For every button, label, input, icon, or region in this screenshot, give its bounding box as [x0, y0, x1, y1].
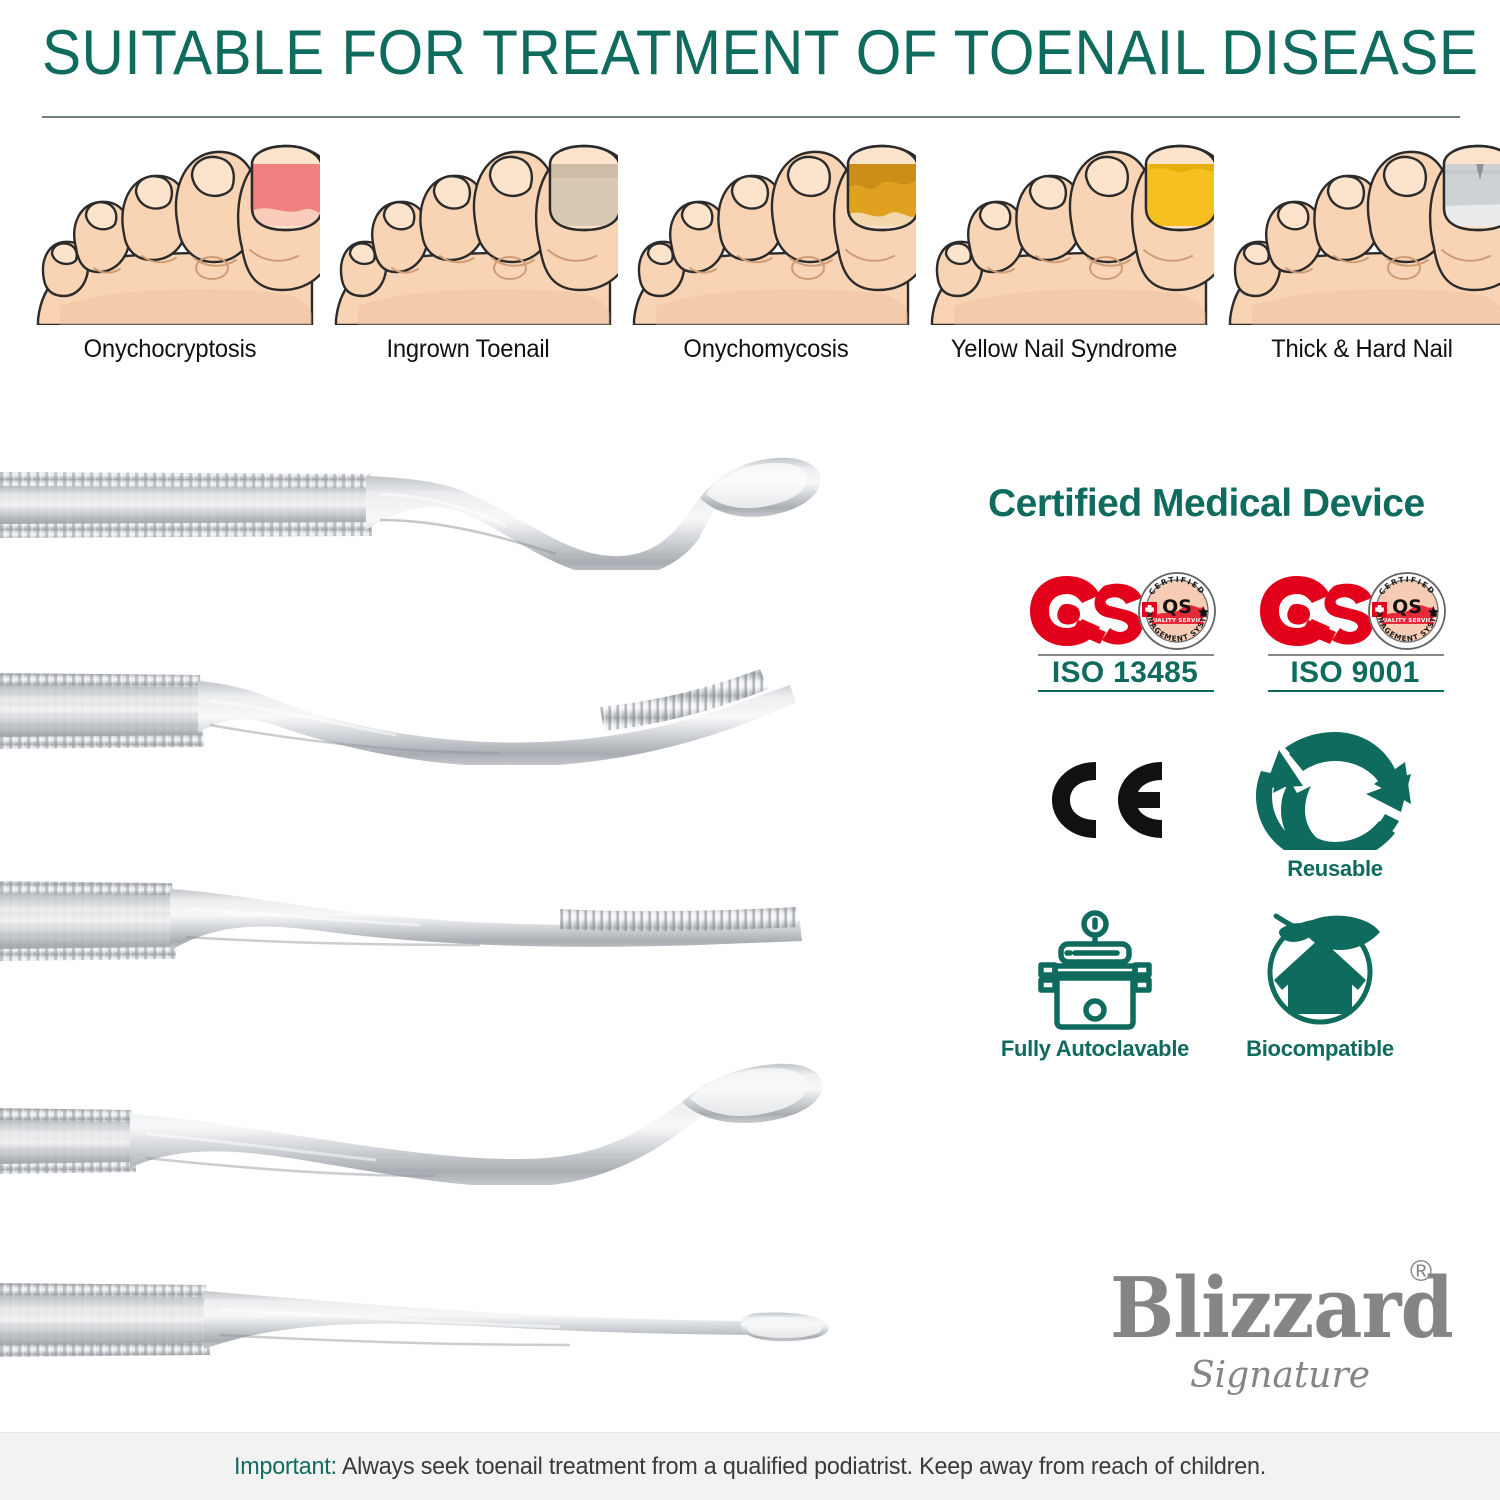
- feature-recycle-icon: Reusable: [1235, 730, 1435, 882]
- brand-tagline: Signature: [1110, 1355, 1450, 1396]
- instrument-curved-serrated-rasp: [0, 655, 900, 770]
- condition-card-3: Onychomycosis: [616, 130, 916, 385]
- brand-name: Blizzard: [1110, 1259, 1450, 1357]
- header-divider: [42, 116, 1460, 118]
- condition-card-5: Thick & Hard Nail: [1212, 130, 1500, 385]
- foot-illustration-thick-cracked: [1212, 130, 1500, 325]
- ce-mark: [1010, 740, 1210, 860]
- foot-illustration-ingrown-dull: [318, 130, 618, 325]
- iso-badge-row: QS QUALITY SERVICE CERTIFIED MANAGEMENT …: [960, 570, 1500, 690]
- header: SUITABLE FOR TREATMENT OF TOENAIL DISEAS…: [0, 0, 1500, 125]
- page-title: SUITABLE FOR TREATMENT OF TOENAIL DISEAS…: [42, 16, 1363, 90]
- certification-heading: Certified Medical Device: [988, 482, 1488, 526]
- feature-label: Biocompatible: [1220, 1036, 1420, 1062]
- iso-badge-iso-9001: QS QUALITY SERVICE CERTIFIED MANAGEMENT …: [1250, 570, 1460, 690]
- recycle-icon: [1235, 730, 1435, 850]
- iso-bottom-rule: [1268, 690, 1444, 692]
- instrument-gallery: [0, 420, 960, 1400]
- footer-disclaimer-bar: Important: Always seek toenail treatment…: [0, 1432, 1500, 1500]
- instrument-straight-paddle-probe: [0, 1265, 900, 1380]
- iso-standard-label: ISO 9001: [1250, 656, 1460, 690]
- condition-label: Yellow Nail Syndrome: [912, 335, 1216, 364]
- condition-label: Onychocryptosis: [18, 335, 322, 364]
- autoclave-icon: [995, 910, 1195, 1030]
- feature-autoclave-icon: Fully Autoclavable: [995, 910, 1195, 1062]
- qs-certified-seal-icon: QS QUALITY SERVICE CERTIFIED MANAGEMENT …: [1020, 570, 1230, 652]
- condition-label: Thick & Hard Nail: [1210, 335, 1500, 364]
- instrument-angled-flat-elevator: [0, 1060, 900, 1190]
- conditions-strip: Onychocryptosis Ing: [0, 130, 1500, 385]
- iso-standard-label: ISO 13485: [1020, 656, 1230, 690]
- feature-label: Fully Autoclavable: [995, 1036, 1195, 1062]
- feature-ce-mark: [1010, 740, 1210, 860]
- footer-text: Important: Always seek toenail treatment…: [23, 1453, 1478, 1481]
- instrument-straight-serrated-rasp: [0, 865, 900, 980]
- certification-panel: Certified Medical Device QS QUALITY SERV…: [960, 470, 1500, 1150]
- foot-illustration-fungal-crumbling: [616, 130, 916, 325]
- condition-card-2: Ingrown Toenail: [318, 130, 618, 385]
- registered-trademark-icon: ®: [1410, 1255, 1432, 1289]
- biocompatible-icon: [1220, 910, 1420, 1030]
- foot-illustration-inflamed-red: [20, 130, 320, 325]
- brand-logo: Blizzard ® Signature: [1110, 1255, 1500, 1420]
- qs-certified-seal-icon: QS QUALITY SERVICE CERTIFIED MANAGEMENT …: [1250, 570, 1460, 652]
- footer-important-label: Important:: [234, 1453, 337, 1480]
- condition-card-4: Yellow Nail Syndrome: [914, 130, 1214, 385]
- feature-biocompatible-icon: Biocompatible: [1220, 910, 1420, 1062]
- condition-label: Onychomycosis: [614, 335, 918, 364]
- condition-label: Ingrown Toenail: [316, 335, 620, 364]
- svg-text:QS: QS: [1392, 596, 1422, 618]
- iso-badge-iso-13485: QS QUALITY SERVICE CERTIFIED MANAGEMENT …: [1020, 570, 1230, 690]
- condition-card-1: Onychocryptosis: [20, 130, 320, 385]
- instrument-curved-nail-lifter: [0, 450, 900, 575]
- footer-body-text: Always seek toenail treatment from a qua…: [337, 1453, 1266, 1480]
- iso-bottom-rule: [1038, 690, 1214, 692]
- foot-illustration-yellow-thick: [914, 130, 1214, 325]
- svg-text:QS: QS: [1162, 596, 1192, 618]
- feature-label: Reusable: [1235, 856, 1435, 882]
